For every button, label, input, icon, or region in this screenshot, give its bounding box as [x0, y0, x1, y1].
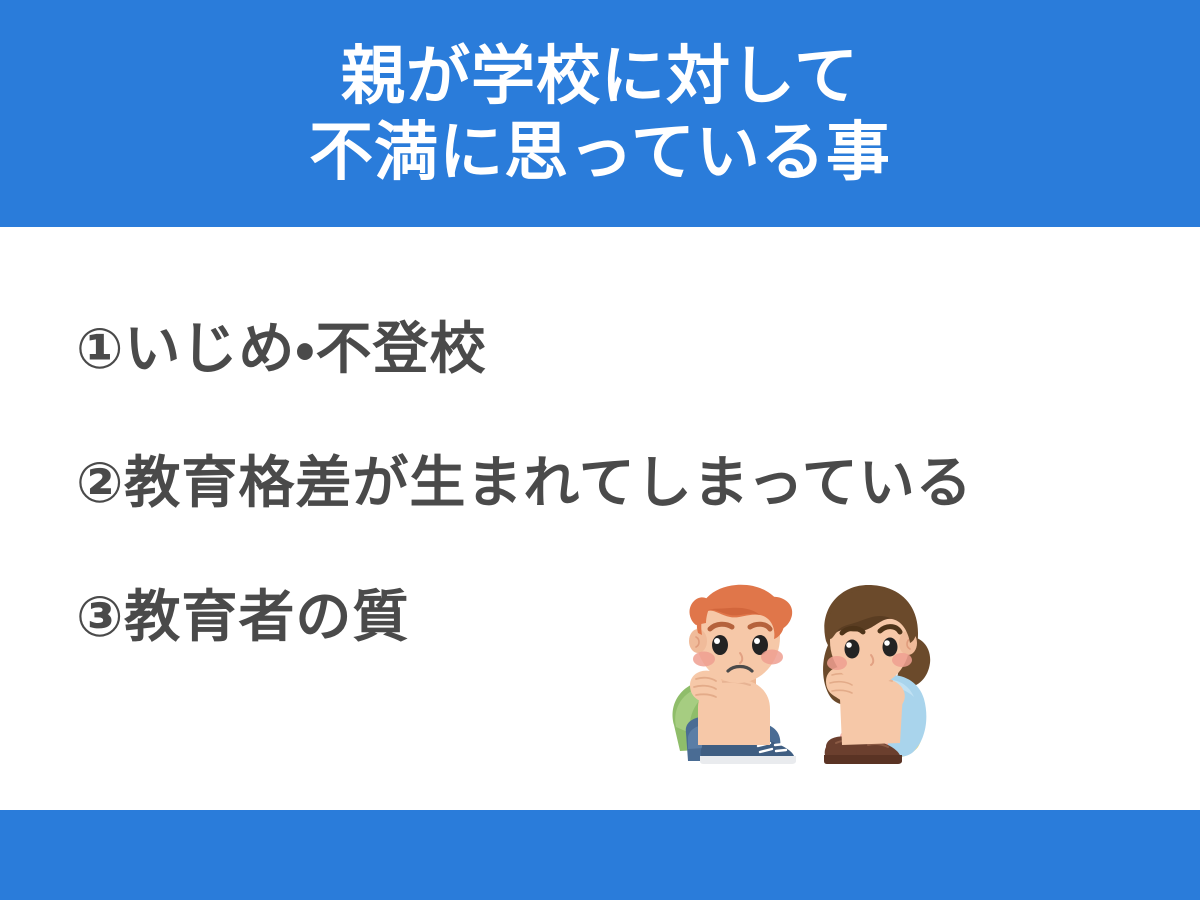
sad-boy-figure: [673, 585, 796, 764]
header-banner: 親が学校に対して 不満に思っている事: [0, 0, 1200, 227]
content-area: ①いじめ・不登校 ②教育格差が生まれてしまっている ③教育者の質: [0, 227, 1200, 810]
complaints-list: ①いじめ・不登校 ②教育格差が生まれてしまっている ③教育者の質: [76, 315, 1136, 651]
list-item: ①いじめ・不登校: [76, 315, 1136, 383]
slide-root: 親が学校に対して 不満に思っている事 ①いじめ・不登校 ②教育格差が生まれてしま…: [0, 0, 1200, 900]
header-title-line-1: 親が学校に対して: [341, 38, 859, 114]
sad-children-illustration: [650, 575, 970, 790]
list-item: ③教育者の質: [76, 583, 1136, 651]
footer-bar: [0, 810, 1200, 900]
header-title-line-2: 不満に思っている事: [309, 114, 891, 190]
sad-girl-figure: [823, 585, 930, 764]
list-item: ②教育格差が生まれてしまっている: [76, 449, 1136, 517]
